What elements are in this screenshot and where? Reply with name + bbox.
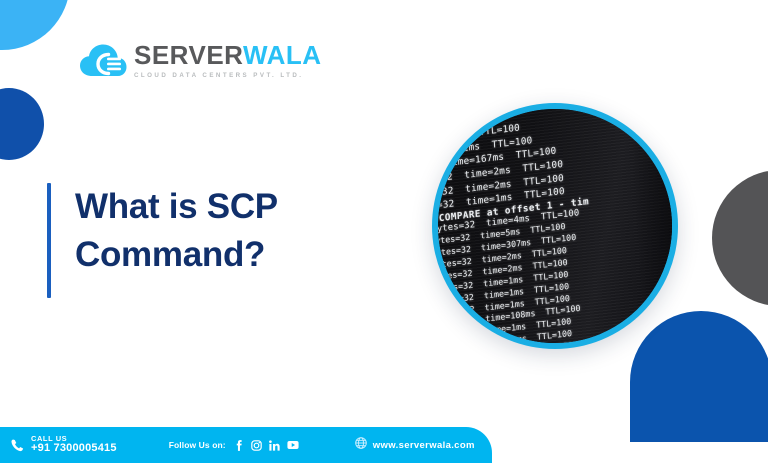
decor-quarter-circle-top-left — [0, 0, 70, 50]
footer-call-text: CALL US +91 7300005415 — [31, 435, 117, 455]
facebook-icon[interactable] — [233, 440, 244, 451]
cloud-server-icon — [78, 38, 128, 82]
globe-icon — [355, 436, 367, 454]
brand-wordmark: SERVERWALA — [134, 42, 322, 68]
headline-accent-bar — [47, 183, 51, 298]
decor-circle-left-navy — [0, 88, 44, 160]
wordmark-wala: WALA — [243, 40, 322, 70]
footer-bar: CALL US +91 7300005415 Follow Us on: — [0, 427, 492, 463]
banner-canvas: SERVERWALA CLOUD DATA CENTERS PVT. LTD. … — [0, 0, 768, 463]
footer-website[interactable]: www.serverwala.com — [355, 436, 475, 454]
brand-logo[interactable]: SERVERWALA CLOUD DATA CENTERS PVT. LTD. — [78, 38, 322, 82]
terminal-disc: n.1 -t 2 time=1ms TTL=100 =32 time=1ms T… — [438, 109, 672, 343]
instagram-icon[interactable] — [251, 440, 262, 451]
youtube-icon[interactable] — [287, 440, 299, 450]
page-title: What is SCP Command? — [75, 183, 335, 298]
wordmark-server: SERVER — [134, 40, 243, 70]
footer-call-number: +91 7300005415 — [31, 443, 117, 455]
terminal-photo-circle: n.1 -t 2 time=1ms TTL=100 =32 time=1ms T… — [432, 103, 678, 349]
brand-tagline: CLOUD DATA CENTERS PVT. LTD. — [134, 72, 322, 79]
footer-call-us[interactable]: CALL US +91 7300005415 — [10, 435, 117, 455]
footer-social-label: Follow Us on: — [169, 440, 226, 450]
footer-social-group: Follow Us on: — [169, 440, 299, 451]
phone-icon — [10, 438, 25, 453]
terminal-screen: n.1 -t 2 time=1ms TTL=100 =32 time=1ms T… — [438, 109, 672, 343]
footer-website-text: www.serverwala.com — [373, 440, 475, 451]
linkedin-icon[interactable] — [269, 440, 280, 451]
headline-block: What is SCP Command? — [47, 183, 335, 298]
decor-circle-right-gray — [712, 170, 768, 306]
